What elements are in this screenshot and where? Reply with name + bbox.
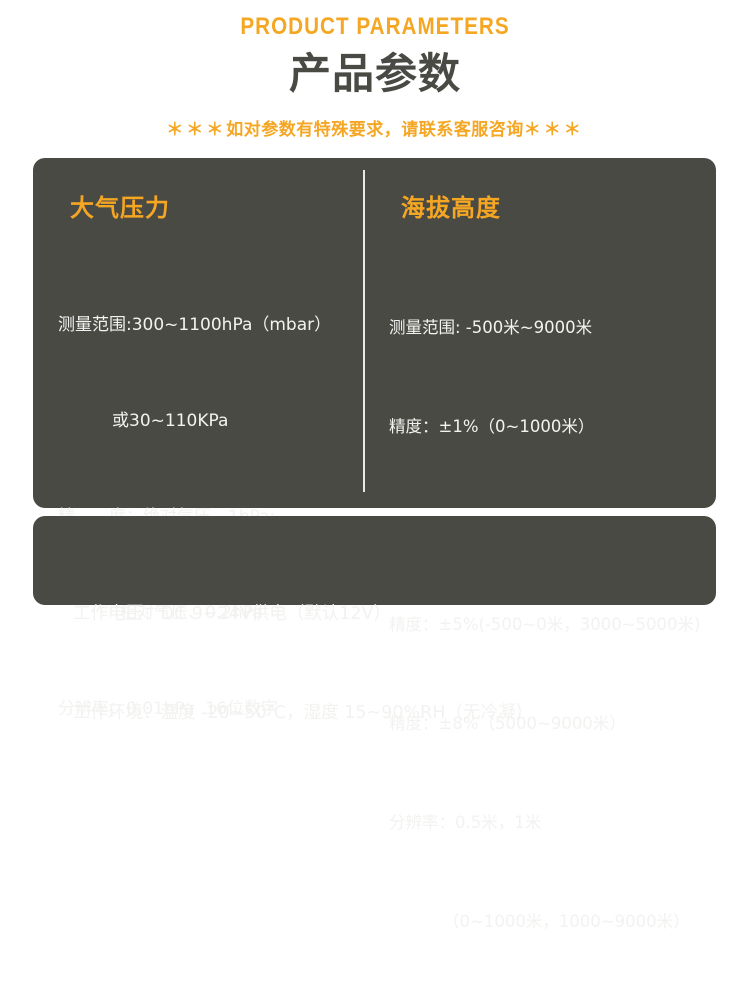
spec-line: 测量范围: -500米~9000米 (389, 311, 716, 344)
spec-line: 精度：±1%（0~1000米） (389, 410, 716, 443)
spec-line: 工作环境：温度 -20~50℃，湿度 15~90%RH（无冷凝） (73, 697, 716, 730)
page-title: 产品参数 (0, 50, 750, 98)
section-title-altitude: 海拔高度 (401, 188, 716, 223)
section-title-atmospheric-pressure: 大气压力 (70, 188, 363, 223)
spec-line: 测量范围:300~1100hPa（mbar） (58, 309, 363, 341)
subtitle-note: ＊＊＊如对参数有特殊要求，请联系客服咨询＊＊＊ (0, 115, 750, 140)
spec-line: 工作电压：DC 9~24V供电（默认12V） (73, 598, 716, 631)
spec-line: （0~1000米，1000~9000米） (389, 905, 716, 938)
stars-left: ＊＊＊ (166, 120, 226, 140)
spec-line: 分辨率：0.5米，1米 (389, 806, 716, 839)
specs-panel: 大气压力 测量范围:300~1100hPa（mbar） 或30~110KPa 精… (33, 158, 716, 508)
stars-right: ＊＊＊ (524, 120, 584, 140)
section-atmospheric-pressure: 大气压力 测量范围:300~1100hPa（mbar） 或30~110KPa 精… (33, 158, 363, 508)
operating-conditions-panel: 工作电压：DC 9~24V供电（默认12V） 工作环境：温度 -20~50℃，湿… (33, 516, 716, 605)
header: PRODUCT PARAMETERS 产品参数 ＊＊＊如对参数有特殊要求，请联系… (0, 0, 750, 140)
product-parameters-page: PRODUCT PARAMETERS 产品参数 ＊＊＊如对参数有特殊要求，请联系… (0, 0, 750, 626)
note-text: 如对参数有特殊要求，请联系客服咨询 (226, 120, 524, 140)
spec-list-operating-conditions: 工作电压：DC 9~24V供电（默认12V） 工作环境：温度 -20~50℃，湿… (73, 532, 716, 796)
spec-line: 或30~110KPa (58, 405, 363, 437)
section-altitude: 海拔高度 测量范围: -500米~9000米 精度：±1%（0~1000米） 精… (363, 158, 716, 508)
eyebrow-title: PRODUCT PARAMETERS (53, 14, 698, 40)
column-divider (363, 170, 365, 492)
